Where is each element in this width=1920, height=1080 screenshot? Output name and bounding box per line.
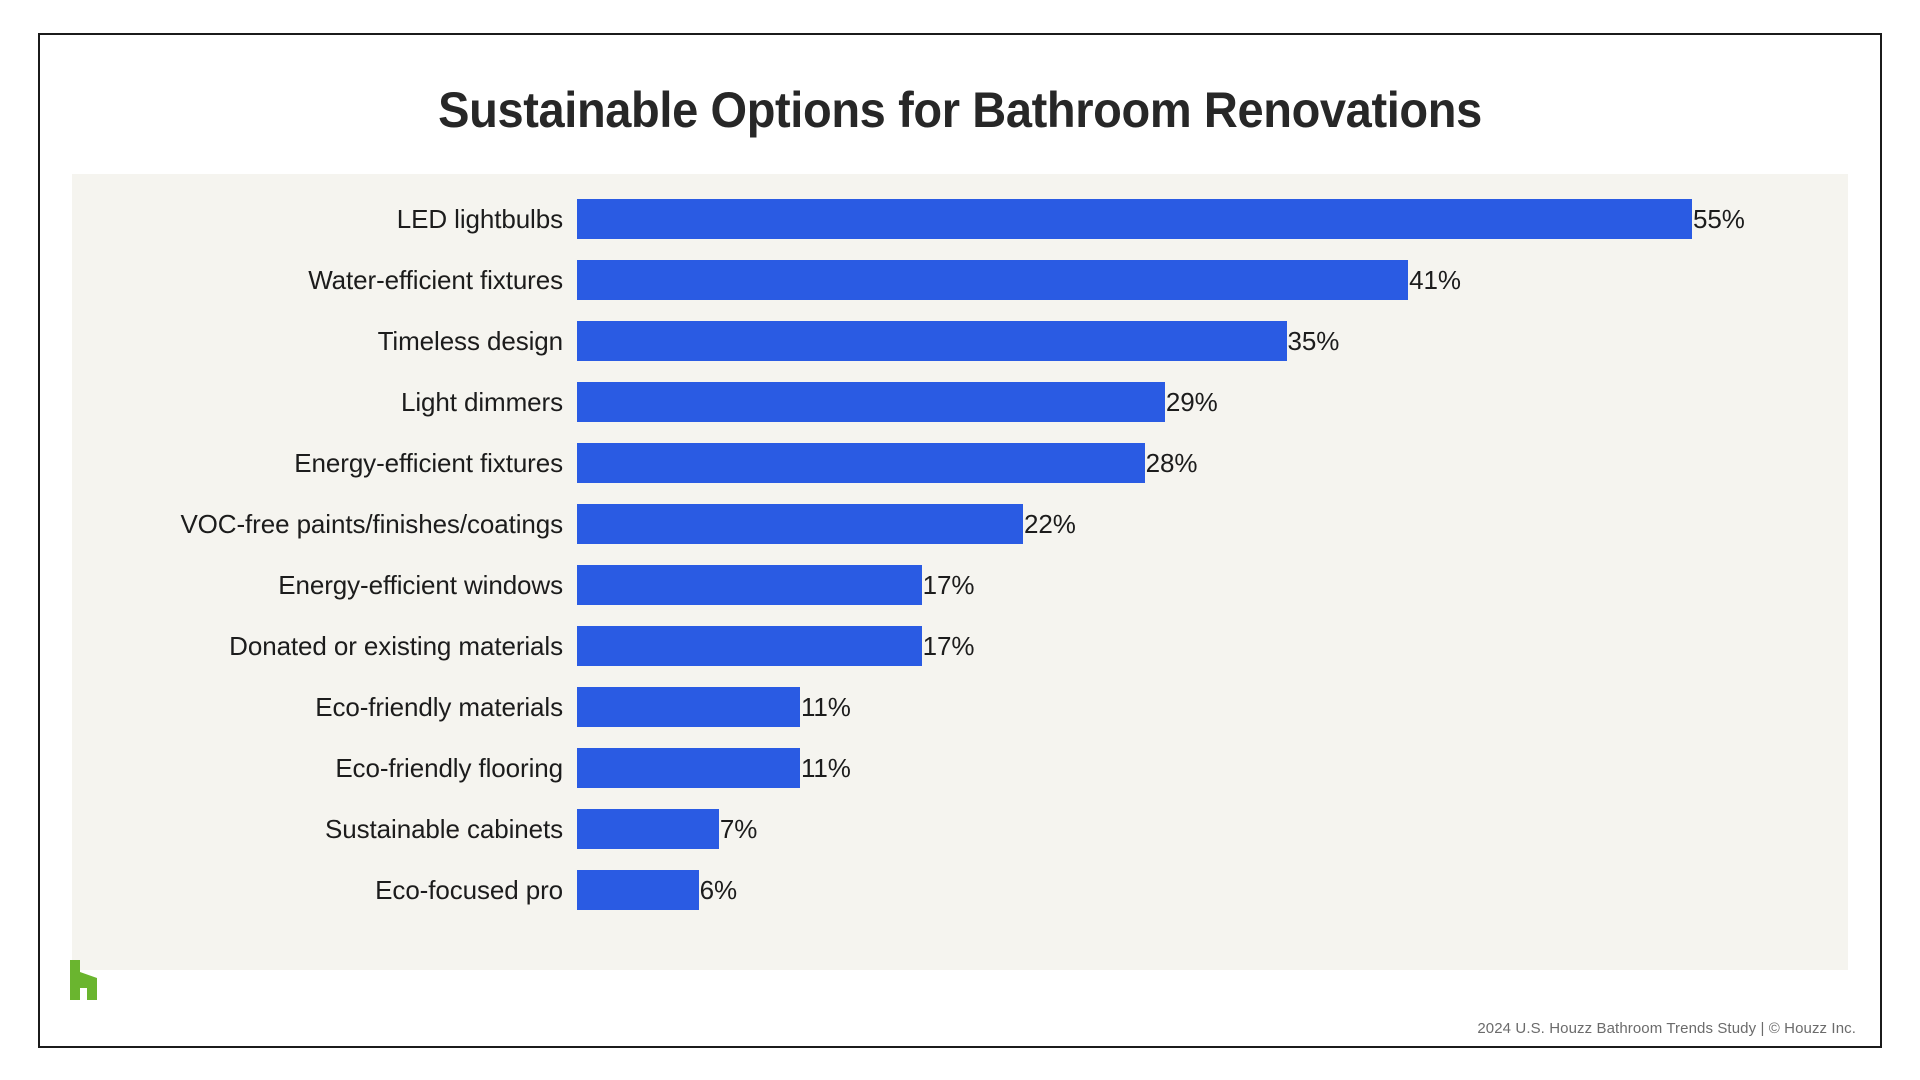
bar-value-label: 35% [1287, 328, 1340, 354]
slide-frame: Sustainable Options for Bathroom Renovat… [38, 33, 1882, 1048]
bar-category-label: Donated or existing materials [72, 633, 577, 659]
bar-row: LED lightbulbs55% [72, 199, 1848, 239]
bar-category-label: Eco-friendly flooring [72, 755, 577, 781]
bar[interactable] [577, 504, 1023, 544]
bar-category-label: LED lightbulbs [72, 206, 577, 232]
bar[interactable] [577, 626, 922, 666]
bar[interactable] [577, 870, 699, 910]
bar-value-label: 11% [800, 694, 851, 720]
bar-row: Water-efficient fixtures41% [72, 260, 1848, 300]
bar-row: Energy-efficient windows17% [72, 565, 1848, 605]
bar-value-label: 17% [922, 572, 975, 598]
bar-value-label: 28% [1145, 450, 1198, 476]
bar-category-label: Sustainable cabinets [72, 816, 577, 842]
bar-row: Sustainable cabinets7% [72, 809, 1848, 849]
bar-category-label: Eco-focused pro [72, 877, 577, 903]
bar[interactable] [577, 382, 1165, 422]
bar-track: 17% [577, 626, 1848, 666]
bar[interactable] [577, 748, 800, 788]
bar-category-label: Eco-friendly materials [72, 694, 577, 720]
bar-value-label: 17% [922, 633, 975, 659]
bar-track: 35% [577, 321, 1848, 361]
bar-category-label: Light dimmers [72, 389, 577, 415]
bar-category-label: Timeless design [72, 328, 577, 354]
houzz-h-logo [66, 958, 108, 1002]
bar-track: 28% [577, 443, 1848, 483]
footer-source-note: 2024 U.S. Houzz Bathroom Trends Study | … [1477, 1020, 1856, 1037]
bar[interactable] [577, 199, 1692, 239]
bar-value-label: 11% [800, 755, 851, 781]
bar-row: Eco-focused pro6% [72, 870, 1848, 910]
bar-category-label: VOC-free paints/finishes/coatings [72, 511, 577, 537]
bar-track: 41% [577, 260, 1848, 300]
bar-row: Donated or existing materials17% [72, 626, 1848, 666]
bar-value-label: 7% [719, 816, 757, 842]
bar-value-label: 55% [1692, 206, 1745, 232]
bar-track: 11% [577, 687, 1848, 727]
bar-row: VOC-free paints/finishes/coatings22% [72, 504, 1848, 544]
bar-track: 29% [577, 382, 1848, 422]
bar-value-label: 6% [699, 877, 737, 903]
bar-row: Light dimmers29% [72, 382, 1848, 422]
bar-track: 6% [577, 870, 1848, 910]
bar-track: 11% [577, 748, 1848, 788]
bar[interactable] [577, 687, 800, 727]
bar-row: Eco-friendly materials11% [72, 687, 1848, 727]
bar-track: 22% [577, 504, 1848, 544]
bar-value-label: 22% [1023, 511, 1076, 537]
bar-track: 55% [577, 199, 1848, 239]
bar-chart-rows: LED lightbulbs55%Water-efficient fixture… [72, 174, 1848, 970]
bar-row: Timeless design35% [72, 321, 1848, 361]
bar-track: 7% [577, 809, 1848, 849]
bar[interactable] [577, 260, 1408, 300]
bar-row: Eco-friendly flooring11% [72, 748, 1848, 788]
bar-row: Energy-efficient fixtures28% [72, 443, 1848, 483]
bar[interactable] [577, 443, 1145, 483]
bar-value-label: 41% [1408, 267, 1461, 293]
bar-track: 17% [577, 565, 1848, 605]
chart-panel: LED lightbulbs55%Water-efficient fixture… [72, 174, 1848, 970]
bar[interactable] [577, 809, 719, 849]
bar-category-label: Energy-efficient windows [72, 572, 577, 598]
bar-value-label: 29% [1165, 389, 1218, 415]
bar[interactable] [577, 321, 1287, 361]
bar[interactable] [577, 565, 922, 605]
bar-category-label: Energy-efficient fixtures [72, 450, 577, 476]
page-title: Sustainable Options for Bathroom Renovat… [95, 81, 1825, 139]
bar-category-label: Water-efficient fixtures [72, 267, 577, 293]
